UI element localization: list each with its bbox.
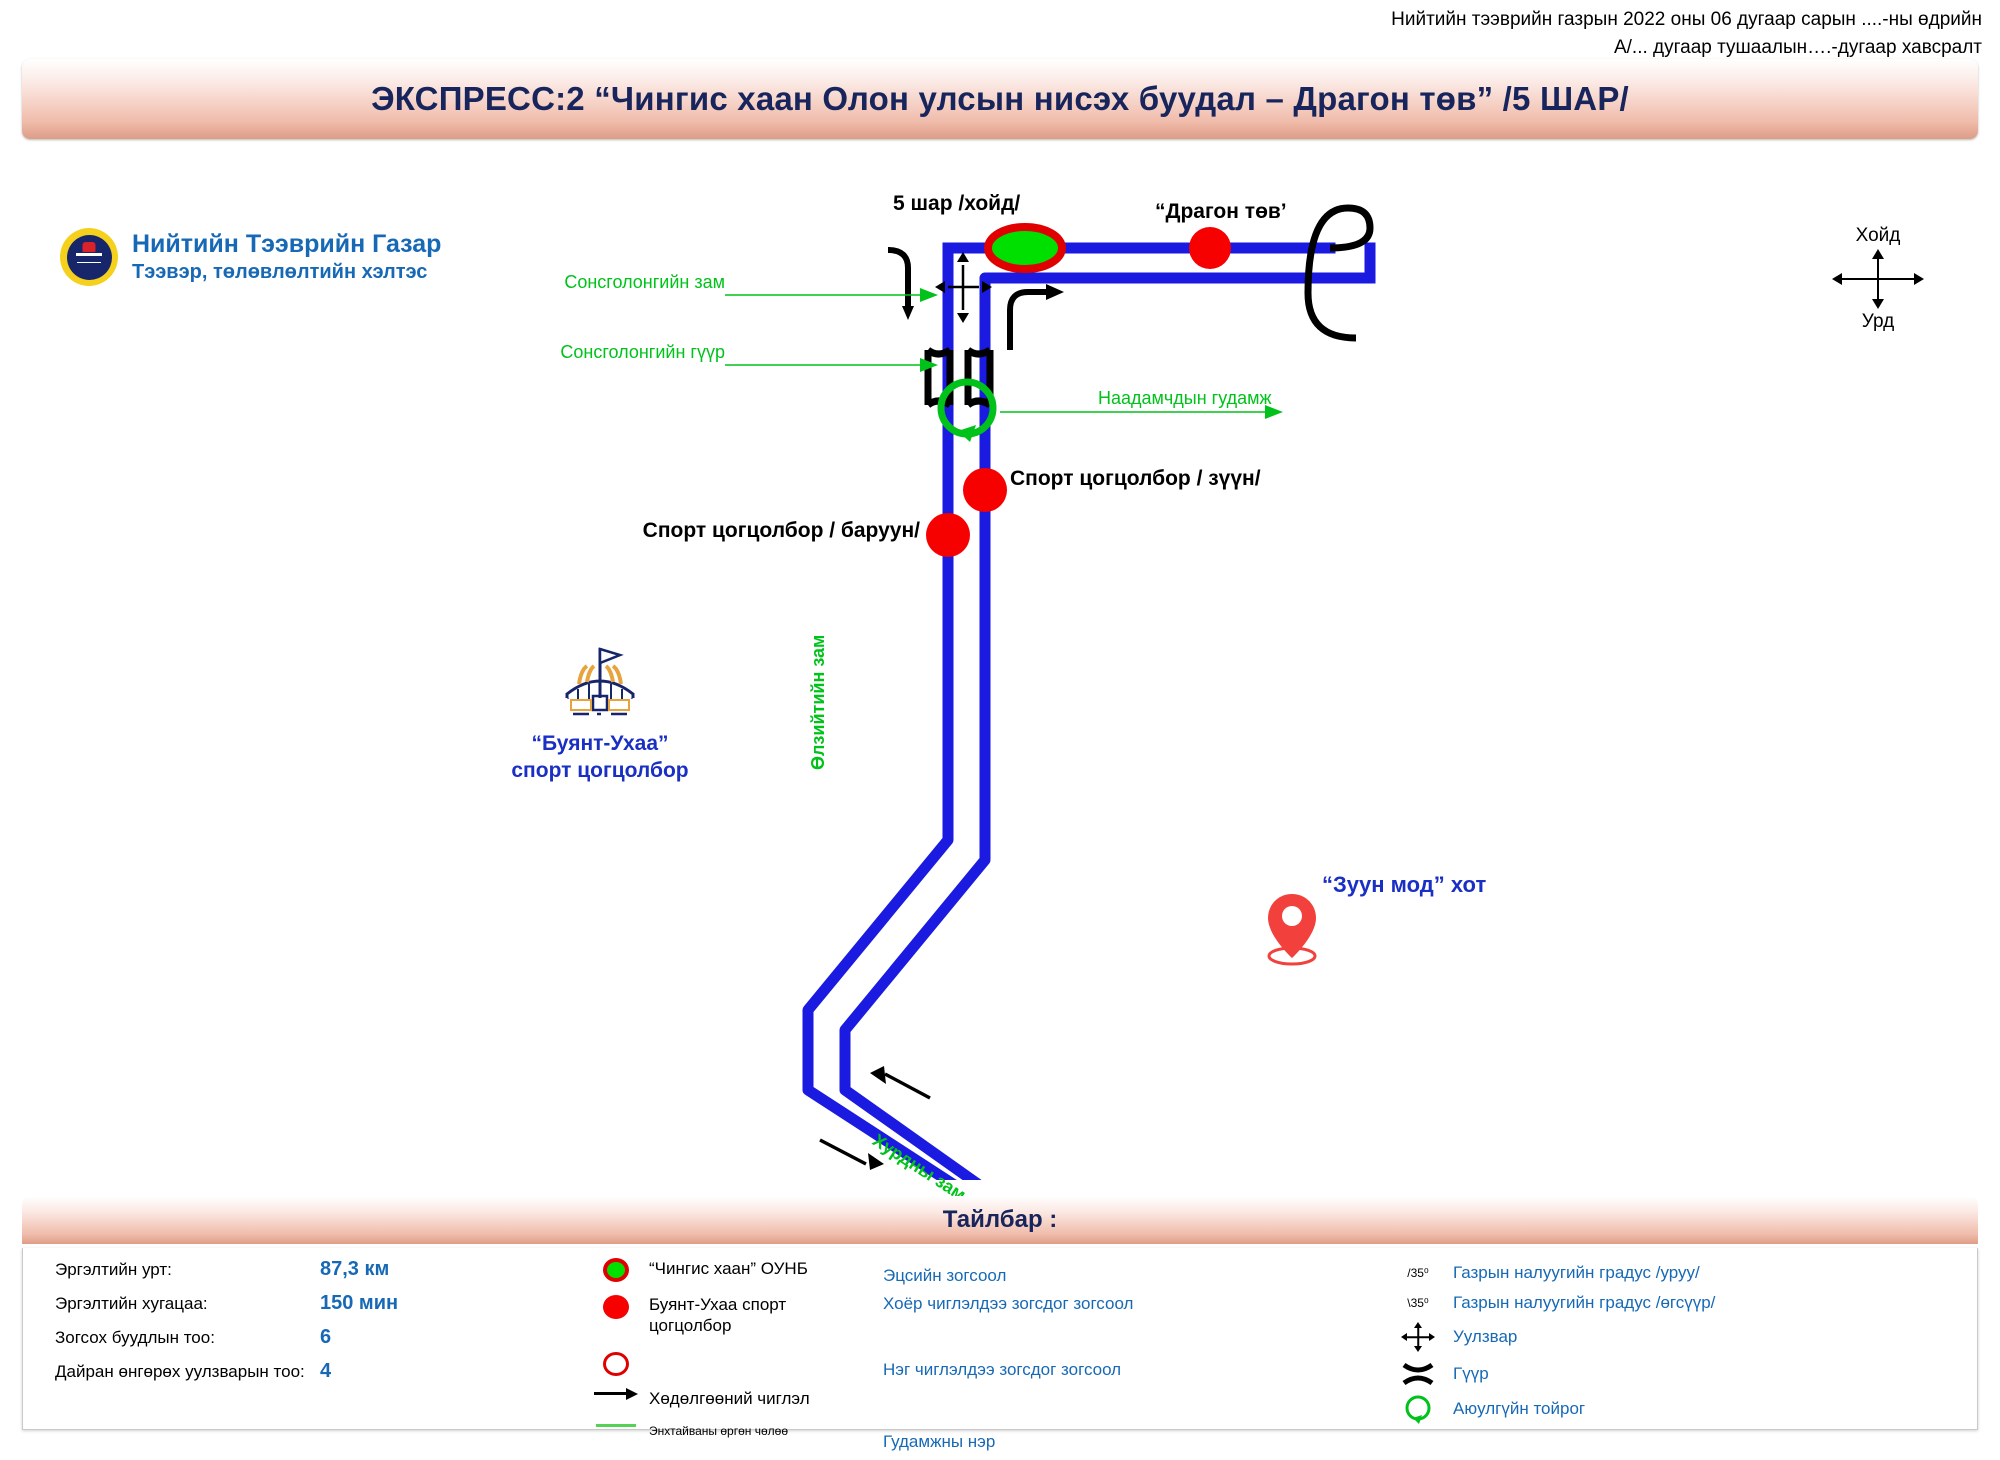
- page-title: ЭКСПРЕСС:2 “Чингис хаан Олон улсын нисэх…: [371, 80, 1629, 118]
- legend-header: Тайлбар :: [22, 1196, 1978, 1244]
- map-label-five-balls: 5 шар /хойд/: [893, 192, 1020, 216]
- legend-stats-column: Эргэлтийн урт: 87,3 км Эргэлтийн хугацаа…: [23, 1258, 583, 1429]
- route-map: 5 шар /хойд/ “Драгон төв’ Сонсголонгийн …: [0, 150, 2000, 1180]
- legend-symbol-label: Энхтайваны өргөн чөлөө: [649, 1424, 788, 1439]
- document-note: Нийтийн тээврийн газрын 2022 оны 06 дуга…: [1391, 6, 1982, 61]
- green-red-dot-icon: [583, 1258, 649, 1282]
- place-label-buyant-ukhaa: “Буянт-Ухаа” спорт цогцолбор: [495, 730, 705, 785]
- stat-value: 87,3 км: [320, 1258, 389, 1281]
- slope-up-value: \35⁰: [1407, 1296, 1429, 1310]
- stat-label: Эргэлтийн урт:: [55, 1260, 320, 1280]
- stadium-icon: [545, 640, 655, 720]
- legend-symbols-column: “Чингис хаан” ОУНБ Буянт-Ухаа спорт цогц…: [583, 1258, 883, 1429]
- legend-right-label: Уулзвар: [1453, 1327, 1517, 1347]
- stop-marker-sport-east: [963, 468, 1007, 512]
- turn-curve-west: [888, 250, 908, 306]
- legend-right-row: Гүүр: [1383, 1356, 1977, 1392]
- street-label-songolon-road: Сонсголонгийн зам: [564, 272, 725, 293]
- stop-marker-dragon-center: [1189, 227, 1231, 269]
- legend-description: Нэг чиглэлдээ зогсдог зогсоол: [883, 1352, 1353, 1388]
- black-arrow-icon: [583, 1388, 649, 1398]
- legend-right-label: Гүүр: [1453, 1364, 1489, 1384]
- legend-right-label: Аюулгүйн тойрог: [1453, 1399, 1585, 1419]
- legend-right-row: /35⁰ Газрын налуугийн градус /уруу/: [1383, 1258, 1977, 1288]
- legend-symbol-row: Хөдөлгөөний чиглэл: [583, 1388, 883, 1424]
- red-dot-icon: [583, 1294, 649, 1320]
- map-label-sport-west: Спорт цогцолбор / баруун/: [643, 517, 920, 544]
- map-label-dragon-center: “Драгон төв’: [1155, 200, 1287, 224]
- legend-symbol-row: “Чингис хаан” ОУНБ: [583, 1258, 883, 1294]
- legend-symbol-row: Энхтайваны өргөн чөлөө: [583, 1424, 883, 1460]
- bridge-icon: [1383, 1359, 1453, 1389]
- stat-row: Эргэлтийн хугацаа: 150 мин: [55, 1292, 583, 1315]
- direction-arrow-outbound-line: [820, 1140, 866, 1164]
- street-label-songolon-bridge: Сонсголонгийн гүүр: [560, 342, 725, 363]
- document-note-line-2: А/... дугаар тушаалын….-дугаар хавсралт: [1391, 34, 1982, 62]
- direction-arrow-inbound-line: [885, 1074, 930, 1098]
- legend-symbol-label: Буянт-Ухаа спорт цогцолбор: [649, 1294, 829, 1337]
- legend-symbol-row: [583, 1352, 883, 1388]
- stat-value: 6: [320, 1326, 331, 1349]
- legend-right-row: \35⁰ Газрын налуугийн градус /өгсүүр/: [1383, 1288, 1977, 1318]
- hollow-red-circle-icon: [583, 1352, 649, 1376]
- legend-symbol-row: Буянт-Ухаа спорт цогцолбор: [583, 1294, 883, 1352]
- stat-row: Дайран өнгөрөх уулзварын тоо: 4: [55, 1360, 583, 1383]
- legend-right-label: Газрын налуугийн градус /өгсүүр/: [1453, 1293, 1715, 1313]
- stop-marker-sport-west: [926, 513, 970, 557]
- place-label-zuun-mod: “Зуун мод” хот: [1322, 872, 1486, 898]
- legend-description: Гудамжны нэр: [883, 1424, 1353, 1460]
- legend-symbol-label: Хөдөлгөөний чиглэл: [649, 1388, 810, 1409]
- turn-curve-east: [1010, 292, 1048, 350]
- legend-right-label: Газрын налуугийн градус /уруу/: [1453, 1263, 1700, 1283]
- slope-down-value: /35⁰: [1407, 1266, 1429, 1280]
- intersection-cross-icon: [1383, 1323, 1453, 1351]
- map-pin-icon: [1262, 888, 1322, 968]
- arrow-head-right-east: [1046, 284, 1064, 300]
- slope-down-icon: /35⁰: [1383, 1266, 1453, 1280]
- slope-up-icon: \35⁰: [1383, 1296, 1453, 1310]
- stat-label: Эргэлтийн хугацаа:: [55, 1294, 320, 1314]
- stat-row: Эргэлтийн урт: 87,3 км: [55, 1258, 583, 1281]
- legend-right-row: Уулзвар: [1383, 1318, 1977, 1356]
- stat-value: 4: [320, 1360, 331, 1383]
- direction-arrow-inbound-head: [870, 1066, 886, 1084]
- route-line-inbound: [845, 278, 1370, 1180]
- document-note-line-1: Нийтийн тээврийн газрын 2022 оны 06 дуга…: [1391, 6, 1982, 34]
- safety-roundabout-icon: [1383, 1394, 1453, 1424]
- stat-row: Зогсох буудлын тоо: 6: [55, 1326, 583, 1349]
- street-label-naadamchdyn: Наадамчдын гудамж: [1098, 388, 1272, 409]
- stop-marker-five-balls: [988, 227, 1062, 269]
- green-line-icon: [583, 1424, 649, 1427]
- title-banner: ЭКСПРЕСС:2 “Чингис хаан Олон улсын нисэх…: [22, 59, 1978, 139]
- stat-value: 150 мин: [320, 1292, 398, 1315]
- stat-label: Дайран өнгөрөх уулзварын тоо:: [55, 1362, 320, 1382]
- legend-description: Эцсийн зогсоол: [883, 1258, 1353, 1294]
- street-label-olziitiin: Өлзийтийн зам: [808, 635, 829, 770]
- legend-right-row: Аюулгүйн тойрог: [1383, 1392, 1977, 1426]
- legend-symbol-label: “Чингис хаан” ОУНБ: [649, 1258, 808, 1279]
- legend-description-spacer: [883, 1388, 1353, 1424]
- stat-label: Зогсох буудлын тоо:: [55, 1328, 320, 1348]
- legend-header-title: Тайлбар :: [943, 1206, 1058, 1234]
- legend-description: Хоёр чиглэлдээ зогсдог зогсоол: [883, 1294, 1353, 1352]
- legend-body: Эргэлтийн урт: 87,3 км Эргэлтийн хугацаа…: [22, 1248, 1978, 1430]
- map-label-sport-east: Спорт цогцолбор / зүүн/: [1010, 465, 1261, 492]
- route-map-svg: [0, 150, 2000, 1180]
- arrow-head-down-west: [902, 306, 914, 320]
- legend-right-column: /35⁰ Газрын налуугийн градус /уруу/ \35⁰…: [1353, 1258, 1977, 1429]
- legend-descriptions-column: Эцсийн зогсоол Хоёр чиглэлдээ зогсдог зо…: [883, 1258, 1353, 1429]
